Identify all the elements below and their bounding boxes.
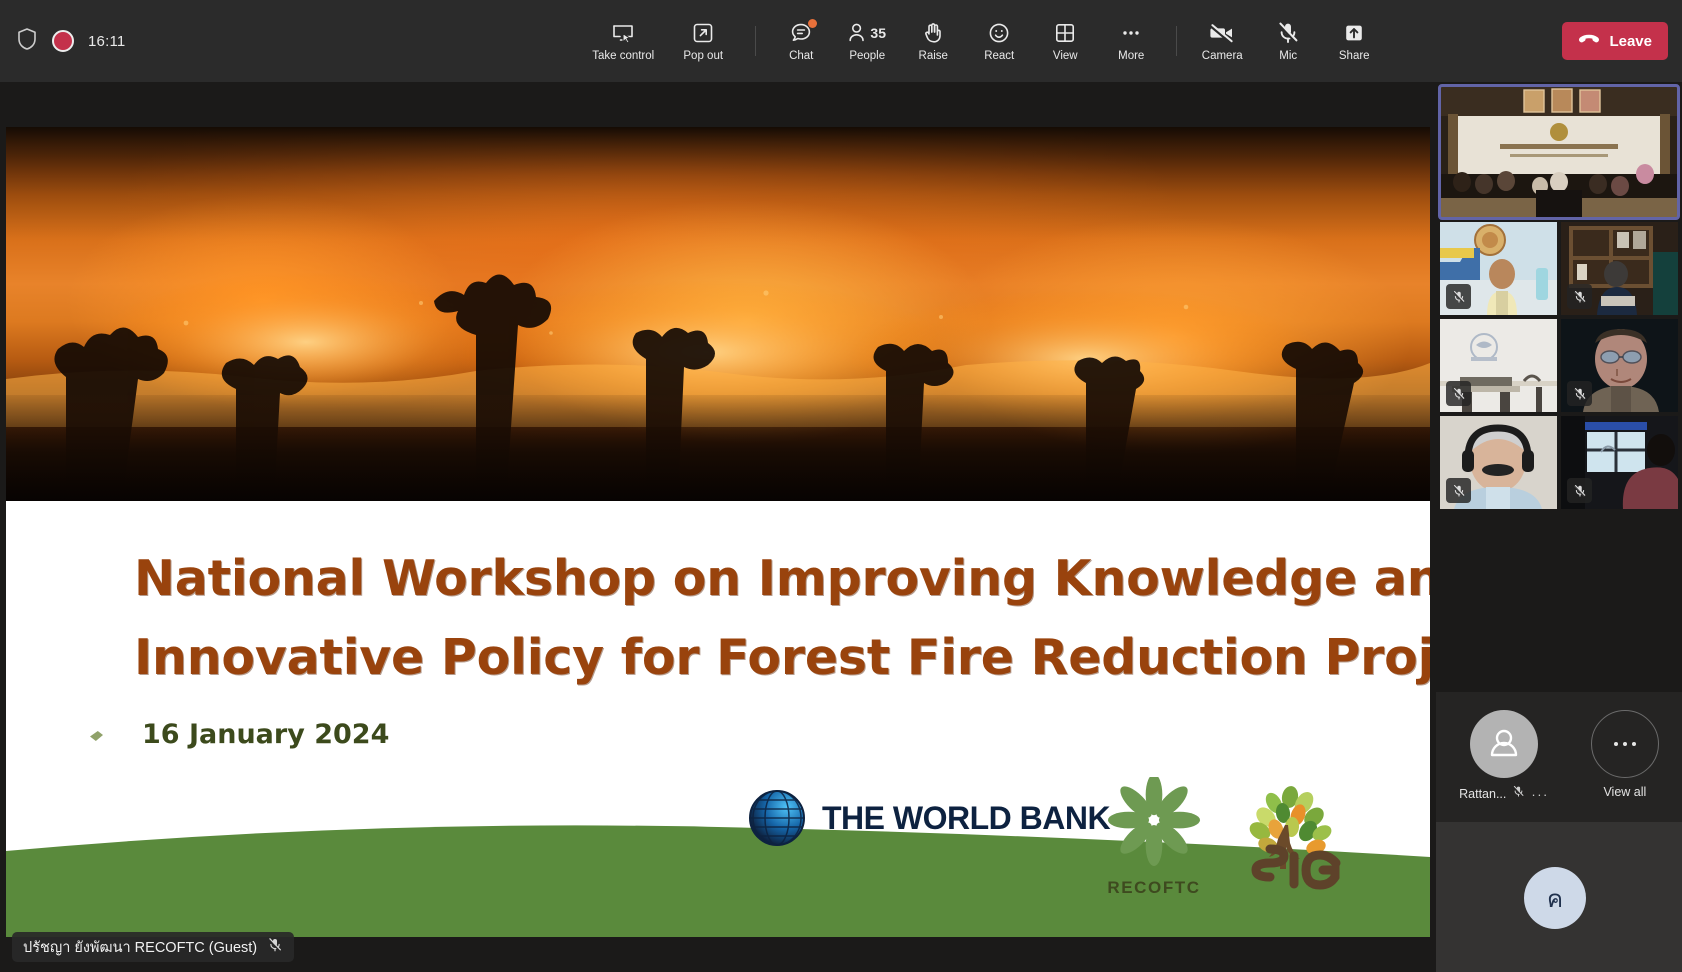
slide-title-line-2: Innovative Policy for Forest Fire Reduct… [134, 618, 1334, 697]
video-tile-participant-5[interactable] [1561, 319, 1678, 412]
person-icon: 35 [848, 20, 886, 46]
toolbar-left-group: 16:11 [0, 27, 300, 56]
video-tile-participant-3[interactable] [1561, 222, 1678, 315]
meeting-toolbar: 16:11 Take control [0, 0, 1682, 82]
chat-button[interactable]: Chat [770, 11, 832, 71]
teams-meeting-window: 16:11 Take control [0, 0, 1682, 972]
toolbar-center-group: Take control Pop out [420, 11, 1550, 71]
presentation-slide[interactable]: National Workshop on Improving Knowledge… [6, 127, 1430, 937]
meeting-clock: 16:11 [88, 33, 125, 50]
tile-mute-badge [1567, 381, 1592, 406]
people-button[interactable]: 35 People [836, 11, 898, 71]
leaf-bullet-icon [90, 731, 103, 741]
recoftc-logo: RECOFTC [1094, 777, 1214, 898]
pop-out-button[interactable]: Pop out [665, 11, 741, 71]
avatar [1470, 710, 1538, 778]
react-label: React [984, 50, 1014, 62]
wall-portraits [1524, 89, 1600, 112]
toolbar-right-group: Leave [1550, 22, 1682, 60]
video-tile-participant-6[interactable] [1440, 416, 1557, 509]
world-bank-logo: THE WORLD BANK [746, 787, 1110, 849]
mic-toggle-button[interactable]: Mic [1257, 11, 1319, 71]
slide-title-line-1: National Workshop on Improving Knowledge… [134, 539, 1334, 618]
tile-mute-badge [1567, 284, 1592, 309]
people-count: 35 [870, 25, 886, 41]
roster-person-name: Rattan... [1459, 787, 1506, 801]
green-wave-graphic [6, 807, 1430, 937]
tile-mute-badge [1446, 381, 1471, 406]
roster-person-meta: Rattan... ··· [1459, 785, 1549, 803]
view-all-label: View all [1603, 785, 1646, 799]
presenter-name-pill: ปรัชญา ยังพัฒนา RECOFTC (Guest) [12, 932, 294, 962]
mic-label: Mic [1279, 50, 1297, 62]
people-label: People [849, 50, 885, 62]
mic-off-icon [1512, 785, 1525, 803]
camera-toggle-button[interactable]: Camera [1191, 11, 1253, 71]
participant-rail: Rattan... ··· [1436, 82, 1682, 972]
hangup-icon [1578, 32, 1600, 50]
pop-out-arrow-icon [691, 20, 715, 46]
camera-off-icon [1209, 20, 1235, 46]
mic-off-icon [267, 937, 283, 958]
mic-off-icon [1276, 20, 1300, 46]
recording-indicator [52, 30, 74, 52]
forest-fire-photo [6, 127, 1430, 501]
shield-icon [16, 27, 38, 56]
recoftc-flower-icon [1105, 777, 1203, 871]
leave-label: Leave [1609, 33, 1652, 50]
screen-cursor-icon [611, 20, 635, 46]
shared-content-stage: National Workshop on Improving Knowledge… [0, 82, 1436, 972]
sig-wordmark [1256, 849, 1336, 885]
view-all-button[interactable]: View all [1591, 710, 1659, 799]
toolbar-divider-2 [1176, 26, 1177, 56]
presenter-name: ปรัชญา ยังพัฒนา RECOFTC (Guest) [23, 936, 257, 959]
conference-room-video [1440, 86, 1678, 218]
floating-avatar-button[interactable]: ค [1524, 867, 1586, 929]
share-screen-icon [1342, 20, 1366, 46]
roster-person-overflow-icon[interactable]: ··· [1531, 788, 1549, 801]
video-tile-participant-7[interactable] [1561, 416, 1678, 509]
leave-button[interactable]: Leave [1562, 22, 1668, 60]
fire-photo-detail [6, 127, 1430, 501]
roster-row: Rattan... ··· [1436, 692, 1682, 822]
grid-icon [1053, 20, 1077, 46]
tile-mute-badge [1446, 478, 1471, 503]
share-screen-button[interactable]: Share [1323, 11, 1385, 71]
ellipsis-icon [1119, 20, 1143, 46]
raise-label: Raise [919, 50, 948, 62]
more-button[interactable]: More [1100, 11, 1162, 71]
view-button[interactable]: View [1034, 11, 1096, 71]
raise-hand-button[interactable]: Raise [902, 11, 964, 71]
recoftc-wordmark: RECOFTC [1094, 878, 1214, 898]
camera-label: Camera [1202, 50, 1243, 62]
slide-date: 16 January 2024 [142, 719, 389, 750]
sig-tree-icon [1228, 773, 1346, 895]
world-bank-globe-icon [746, 787, 808, 849]
ellipsis-icon [1591, 710, 1659, 778]
roster-person-rattan[interactable]: Rattan... ··· [1459, 710, 1549, 803]
take-control-label: Take control [592, 50, 654, 62]
sig-logo [1228, 773, 1346, 900]
world-bank-wordmark: THE WORLD BANK [822, 800, 1110, 837]
take-control-button[interactable]: Take control [585, 11, 661, 71]
react-button[interactable]: React [968, 11, 1030, 71]
share-label: Share [1339, 50, 1370, 62]
video-tile-conference-room[interactable] [1440, 86, 1678, 218]
smiley-icon [987, 20, 1011, 46]
view-label: View [1053, 50, 1078, 62]
tile-mute-badge [1567, 478, 1592, 503]
tile-mute-badge [1446, 284, 1471, 309]
slide-title: National Workshop on Improving Knowledge… [134, 539, 1334, 698]
floating-avatar-initial: ค [1547, 879, 1563, 918]
chat-label: Chat [789, 50, 813, 62]
pop-out-label: Pop out [683, 50, 723, 62]
rail-bottom-panel: ค [1436, 822, 1682, 972]
video-tile-participant-2[interactable] [1440, 222, 1557, 315]
toolbar-divider [755, 26, 756, 56]
raised-hand-icon [921, 20, 945, 46]
video-tile-participant-4[interactable] [1440, 319, 1557, 412]
chat-unread-badge [808, 19, 817, 28]
person-avatar-icon [1484, 724, 1524, 764]
more-label: More [1118, 50, 1144, 62]
